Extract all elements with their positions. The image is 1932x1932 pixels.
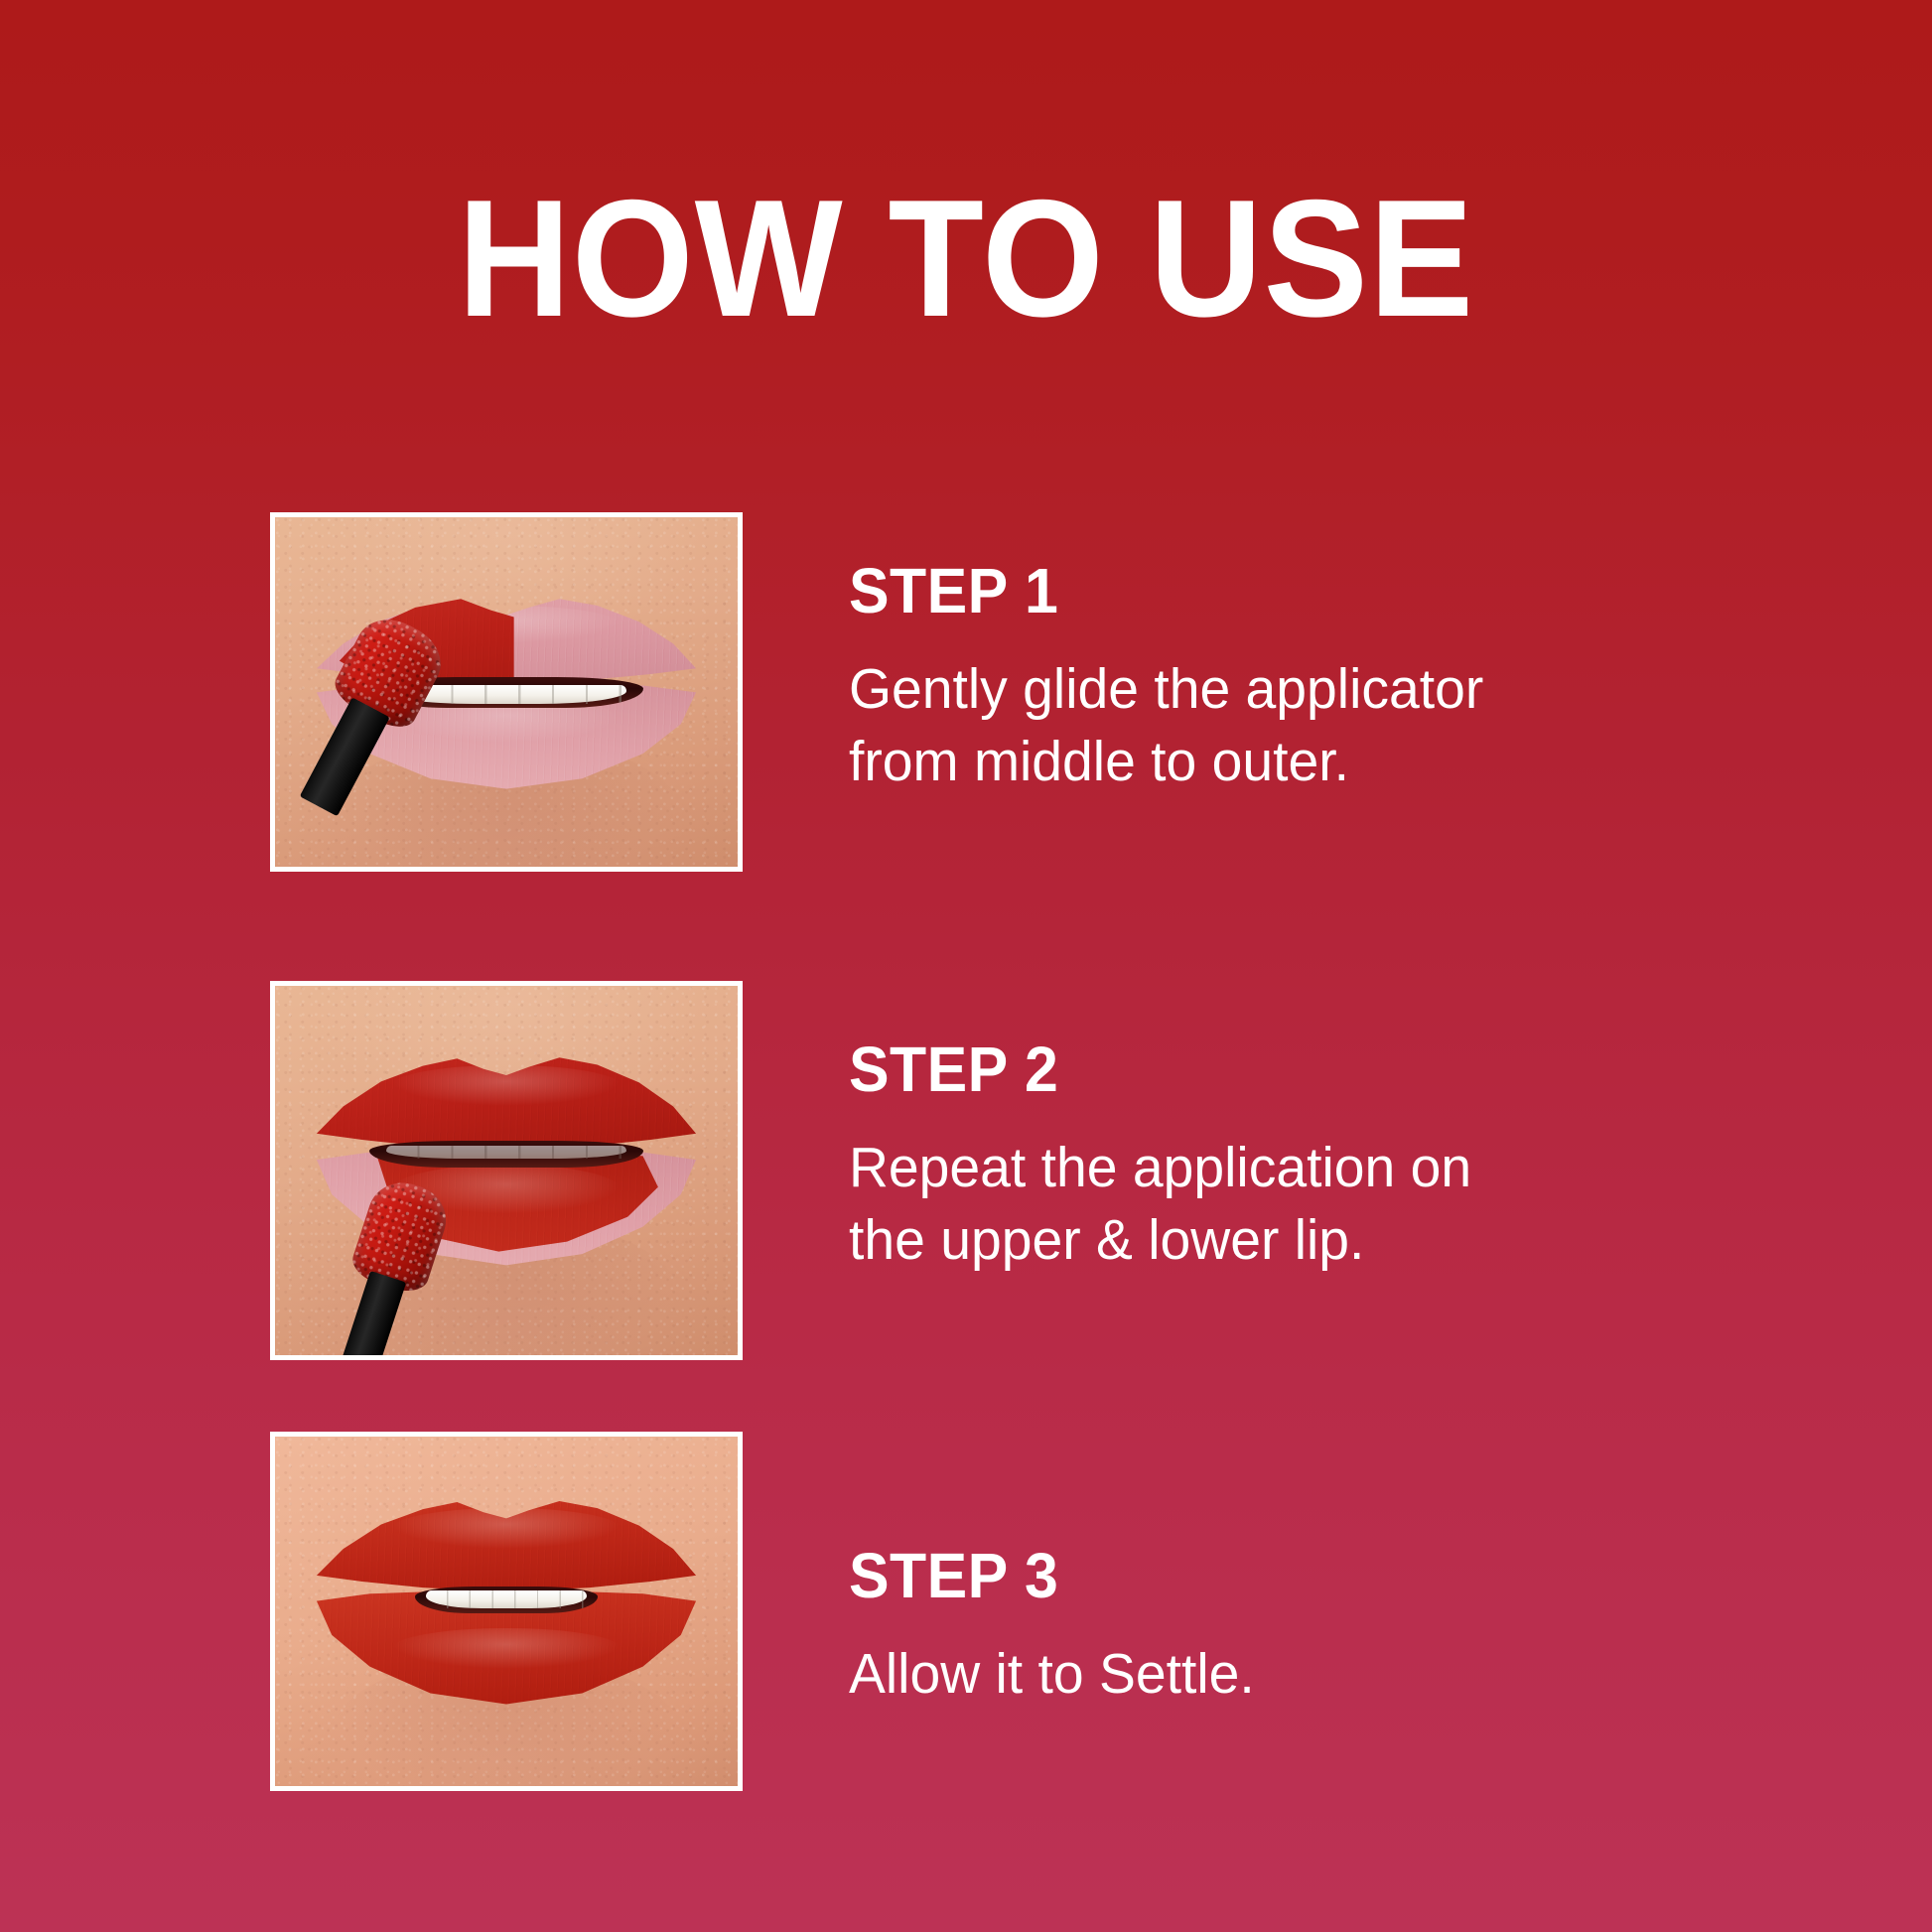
upper-lip (317, 1496, 696, 1598)
teeth (386, 1146, 626, 1159)
step-2-text: STEP 2 Repeat the application on the upp… (849, 981, 1643, 1277)
step-2-description: Repeat the application on the upper & lo… (849, 1132, 1609, 1277)
step-3-description: Allow it to Settle. (849, 1638, 1609, 1711)
teeth-separations (426, 1590, 586, 1609)
mouth-opening (369, 1141, 642, 1168)
teeth-separations (386, 1146, 626, 1159)
step-1-text: STEP 1 Gently glide the applicator from … (849, 512, 1643, 798)
step-1-description: Gently glide the applicator from middle … (849, 653, 1609, 798)
step-1-photo-inner (275, 517, 738, 867)
step-1-label: STEP 1 (849, 558, 1603, 623)
lip-sheen (392, 1508, 620, 1549)
teeth (426, 1590, 586, 1609)
lip-sheen (392, 1065, 620, 1107)
step-1-description-line-2: from middle to outer. (849, 726, 1609, 798)
step-row-1: STEP 1 Gently glide the applicator from … (0, 512, 1932, 872)
mouth-opening (415, 1587, 597, 1612)
how-to-use-poster: HOW TO USE (0, 0, 1932, 1932)
step-2-label: STEP 2 (849, 1036, 1603, 1102)
step-1-photo (270, 512, 743, 872)
step-2-photo (270, 981, 743, 1360)
page-title: HOW TO USE (58, 175, 1873, 342)
step-3-text: STEP 3 Allow it to Settle. (849, 1432, 1643, 1711)
step-row-2: STEP 2 Repeat the application on the upp… (0, 981, 1932, 1360)
step-3-photo-inner (275, 1437, 738, 1786)
step-3-label: STEP 3 (849, 1543, 1603, 1608)
step-row-3: STEP 3 Allow it to Settle. (0, 1432, 1932, 1791)
step-2-photo-inner (275, 986, 738, 1355)
lip-sheen (392, 1628, 620, 1670)
step-2-description-line-2: the upper & lower lip. (849, 1204, 1609, 1277)
lips-illustration (317, 1496, 696, 1713)
step-2-description-line-1: Repeat the application on (849, 1132, 1609, 1204)
step-1-description-line-1: Gently glide the applicator (849, 653, 1609, 726)
step-3-photo (270, 1432, 743, 1791)
step-3-description-line-1: Allow it to Settle. (849, 1638, 1609, 1711)
